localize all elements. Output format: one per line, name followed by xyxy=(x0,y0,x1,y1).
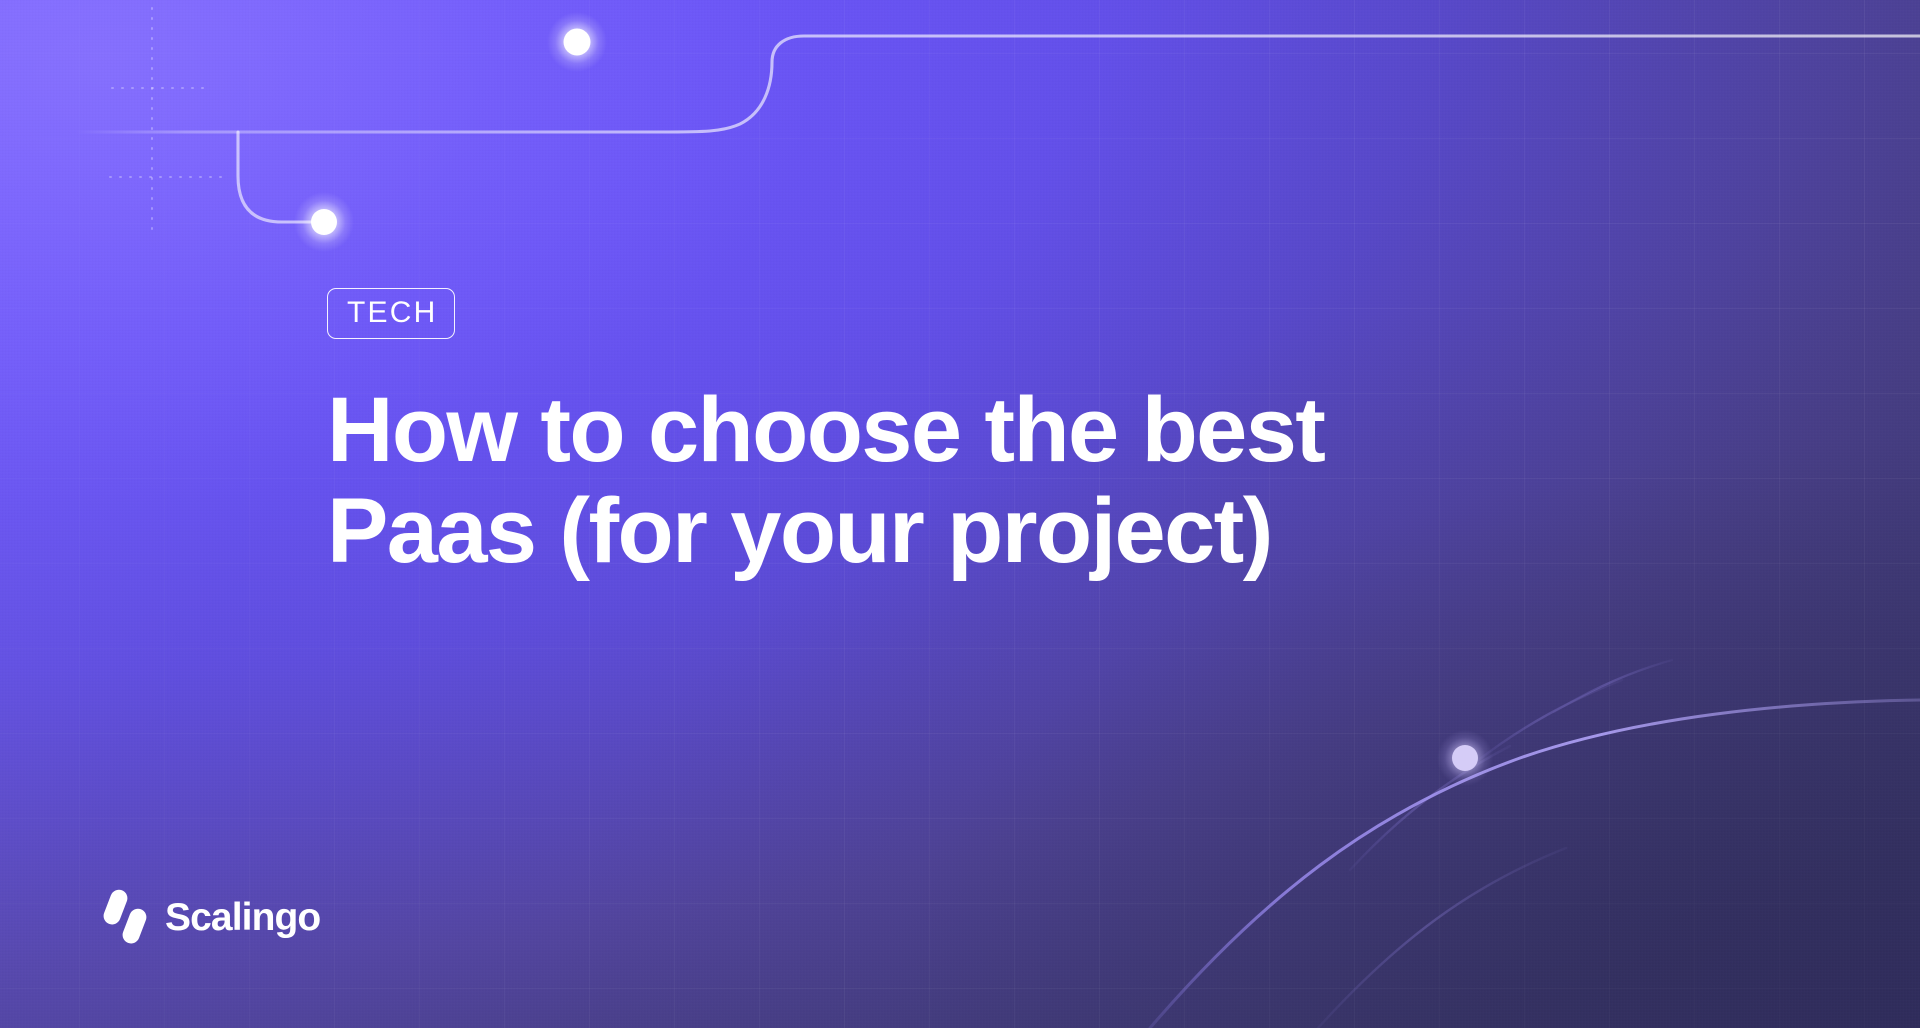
banner-content: TECH How to choose the best Paas (for yo… xyxy=(327,288,1507,582)
page-title: How to choose the best Paas (for your pr… xyxy=(327,380,1447,582)
blog-cover-banner: TECH How to choose the best Paas (for yo… xyxy=(0,0,1920,1028)
category-badge[interactable]: TECH xyxy=(327,288,455,339)
scalingo-bolt-icon xyxy=(106,889,148,946)
brand-name: Scalingo xyxy=(165,898,320,937)
brand-logo[interactable]: Scalingo xyxy=(106,889,320,946)
